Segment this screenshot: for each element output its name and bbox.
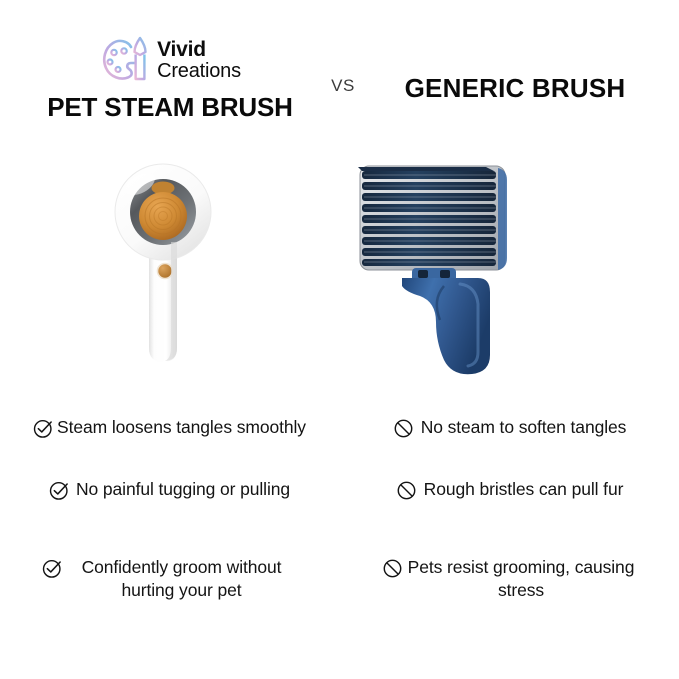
product-images xyxy=(0,150,679,395)
list-item: Rough bristles can pull fur xyxy=(340,478,679,501)
left-column-title: PET STEAM BRUSH xyxy=(10,92,330,123)
left-feature-column: Steam loosens tangles smoothly No painfu… xyxy=(0,398,339,628)
prohibition-icon xyxy=(393,418,414,439)
list-item-label: Pets resist grooming, causing stress xyxy=(405,556,637,602)
logo-word-creations: Creations xyxy=(157,61,241,82)
vs-divider-label: VS xyxy=(322,76,364,96)
logo-lockup: Vivid Creations xyxy=(10,32,330,88)
comparison-infographic: Vivid Creations PET STEAM BRUSH VS GENER… xyxy=(0,0,679,679)
check-circle-icon xyxy=(33,418,54,439)
right-column-title: GENERIC BRUSH xyxy=(360,73,670,104)
header: Vivid Creations PET STEAM BRUSH VS GENER… xyxy=(0,0,679,150)
generic-brush-image xyxy=(340,150,679,395)
prohibition-icon xyxy=(396,480,417,501)
list-item-label: Steam loosens tangles smoothly xyxy=(57,416,306,439)
list-item: Confidently groom without hurting your p… xyxy=(0,556,339,602)
brand-block: Vivid Creations PET STEAM BRUSH xyxy=(10,32,330,123)
pet-steam-brush-image xyxy=(0,150,340,395)
check-circle-icon xyxy=(42,558,63,579)
list-item: No painful tugging or pulling xyxy=(0,478,339,501)
list-item: Pets resist grooming, causing stress xyxy=(340,556,679,602)
list-item-label: Rough bristles can pull fur xyxy=(424,478,624,501)
check-circle-icon xyxy=(49,480,70,501)
list-item-label: Confidently groom without hurting your p… xyxy=(66,556,298,602)
list-item-label: No painful tugging or pulling xyxy=(76,478,290,501)
right-feature-column: No steam to soften tangles Rough bristle… xyxy=(340,398,679,628)
logo-wordmark: Vivid Creations xyxy=(157,39,241,82)
list-item: Steam loosens tangles smoothly xyxy=(0,416,339,439)
feature-lists: Steam loosens tangles smoothly No painfu… xyxy=(0,398,679,628)
list-item-label: No steam to soften tangles xyxy=(421,416,627,439)
list-item: No steam to soften tangles xyxy=(340,416,679,439)
prohibition-icon xyxy=(382,558,403,579)
paint-palette-brush-icon xyxy=(99,35,151,85)
logo-word-vivid: Vivid xyxy=(157,39,241,61)
